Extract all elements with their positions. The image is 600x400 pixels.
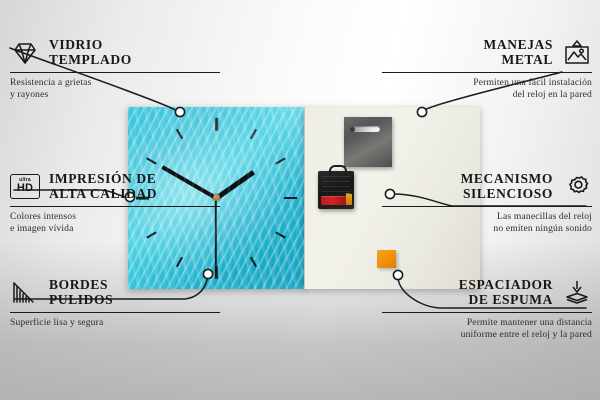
- callout-rule: [382, 312, 592, 313]
- callout-sub-line2: y rayones: [10, 89, 48, 100]
- picture-hanger-icon: [562, 40, 592, 66]
- callout-impresion-alta-calidad: ultra HD IMPRESIÓN DE ALTA CALIDAD Color…: [10, 172, 220, 235]
- callout-title-line1: VIDRIO: [49, 37, 103, 52]
- callout-title-line1: IMPRESIÓN DE: [49, 171, 156, 186]
- gear-icon: [562, 174, 592, 200]
- callout-title-line2: ALTA CALIDAD: [49, 186, 157, 201]
- polished-edge-icon: [10, 280, 40, 306]
- callout-rule: [10, 72, 220, 73]
- callout-sub-line2: uniforme entre el reloj y la pared: [461, 329, 592, 340]
- clock-hour-hand: [215, 170, 256, 200]
- mechanism-loop: [329, 165, 347, 176]
- callout-sub-line1: Resistencia a grietas: [10, 77, 91, 88]
- callout-bordes-pulidos: BORDES PULIDOS Superficie lisa y segura: [10, 278, 220, 329]
- callout-sub-line1: Permiten una fácil instalación: [473, 77, 592, 88]
- clock-marker: [284, 197, 297, 200]
- callout-vidrio-templado: VIDRIO TEMPLADO Resistencia a grietas y …: [10, 38, 220, 101]
- callout-sub-line1: Permite mantener una distancia: [467, 317, 592, 328]
- clock-marker: [215, 265, 218, 278]
- clock-marker: [175, 129, 182, 140]
- clock-marker: [275, 157, 286, 164]
- foam-spacer-pad: [377, 250, 396, 268]
- diamond-icon: [10, 40, 40, 66]
- callout-title-line1: MECANISMO: [461, 171, 553, 186]
- clock-marker: [175, 257, 182, 268]
- callout-title-line1: BORDES: [49, 277, 108, 292]
- callout-rule: [10, 312, 220, 313]
- callout-mecanismo-silencioso: MECANISMO SILENCIOSO Las manecillas del …: [382, 172, 592, 235]
- callout-rule: [382, 206, 592, 207]
- callout-title-line2: TEMPLADO: [49, 52, 132, 67]
- callout-rule: [10, 206, 220, 207]
- clock-marker: [215, 117, 218, 130]
- callout-sub-line1: Colores intensos: [10, 211, 76, 222]
- callout-espaciador-espuma: ESPACIADOR DE ESPUMA Permite mantener un…: [382, 278, 592, 341]
- callout-rule: [382, 72, 592, 73]
- hanger-hole: [350, 127, 355, 132]
- ultra-hd-icon: ultra HD: [10, 174, 40, 200]
- callout-sub-line1: Superficie lisa y segura: [10, 317, 103, 328]
- callout-title-line2: DE ESPUMA: [468, 292, 553, 307]
- mechanism-grill: [322, 176, 350, 192]
- callout-title-line2: METAL: [501, 52, 553, 67]
- clock-marker: [147, 157, 158, 164]
- clock-marker: [275, 231, 286, 238]
- hanger-slot: [352, 126, 380, 132]
- callout-sub-line2: no emiten ningún sonido: [493, 223, 592, 234]
- ultra-hd-icon-large-text: HD: [17, 183, 33, 194]
- callout-title-line1: MANEJAS: [484, 37, 553, 52]
- foam-spacer-icon: [562, 280, 592, 306]
- callout-title-line2: SILENCIOSO: [463, 186, 553, 201]
- callout-manejas-metal: MANEJAS METAL Permiten una fácil instala…: [382, 38, 592, 101]
- hanger-plate: [344, 117, 392, 167]
- clock-marker: [249, 129, 256, 140]
- callout-sub-line2: e imagen vívida: [10, 223, 74, 234]
- clock-mechanism: [318, 171, 354, 209]
- callout-title-line2: PULIDOS: [49, 292, 113, 307]
- clock-marker: [249, 257, 256, 268]
- battery: [321, 196, 351, 205]
- infographic-canvas: VIDRIO TEMPLADO Resistencia a grietas y …: [0, 0, 600, 400]
- callout-title-line1: ESPACIADOR: [459, 277, 553, 292]
- callout-sub-line1: Las manecillas del reloj: [497, 211, 592, 222]
- callout-sub-line2: del reloj en la pared: [513, 89, 592, 100]
